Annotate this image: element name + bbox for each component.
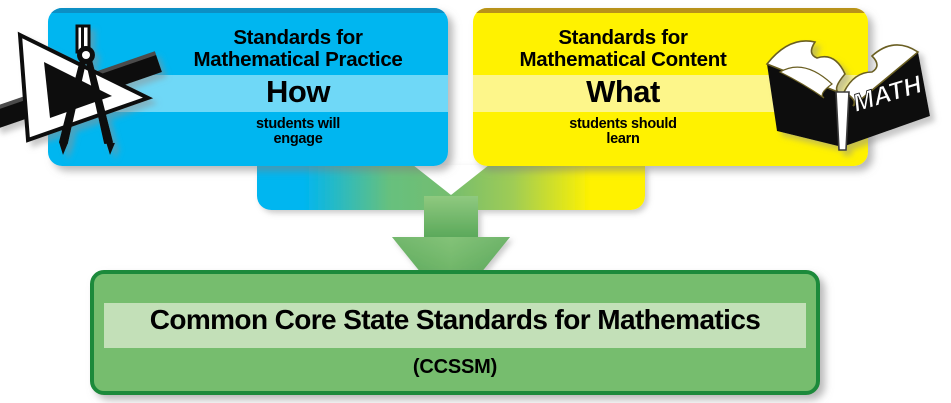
practice-subtext-line1: students will — [148, 117, 448, 132]
practice-heading-line2: Mathematical Practice — [148, 49, 448, 71]
content-subtext-line1: students should — [473, 117, 773, 132]
practice-subtext: students will engage — [148, 117, 448, 148]
practice-subtext-line2: engage — [148, 132, 448, 147]
result-abbreviation: (CCSSM) — [104, 357, 806, 378]
content-heading-line1: Standards for — [473, 27, 773, 49]
practice-heading-line1: Standards for — [148, 27, 448, 49]
content-subtext: students should learn — [473, 117, 773, 148]
diagram-canvas: MATH Standards for Mathematical Practice… — [0, 0, 951, 403]
content-heading: Standards for Mathematical Content — [473, 27, 773, 70]
content-heading-line2: Mathematical Content — [473, 49, 773, 71]
practice-heading: Standards for Mathematical Practice — [148, 27, 448, 70]
content-subtext-line2: learn — [473, 132, 773, 147]
content-big-word: What — [473, 76, 773, 109]
result-title: Common Core State Standards for Mathemat… — [104, 305, 806, 335]
practice-big-word: How — [148, 76, 448, 109]
